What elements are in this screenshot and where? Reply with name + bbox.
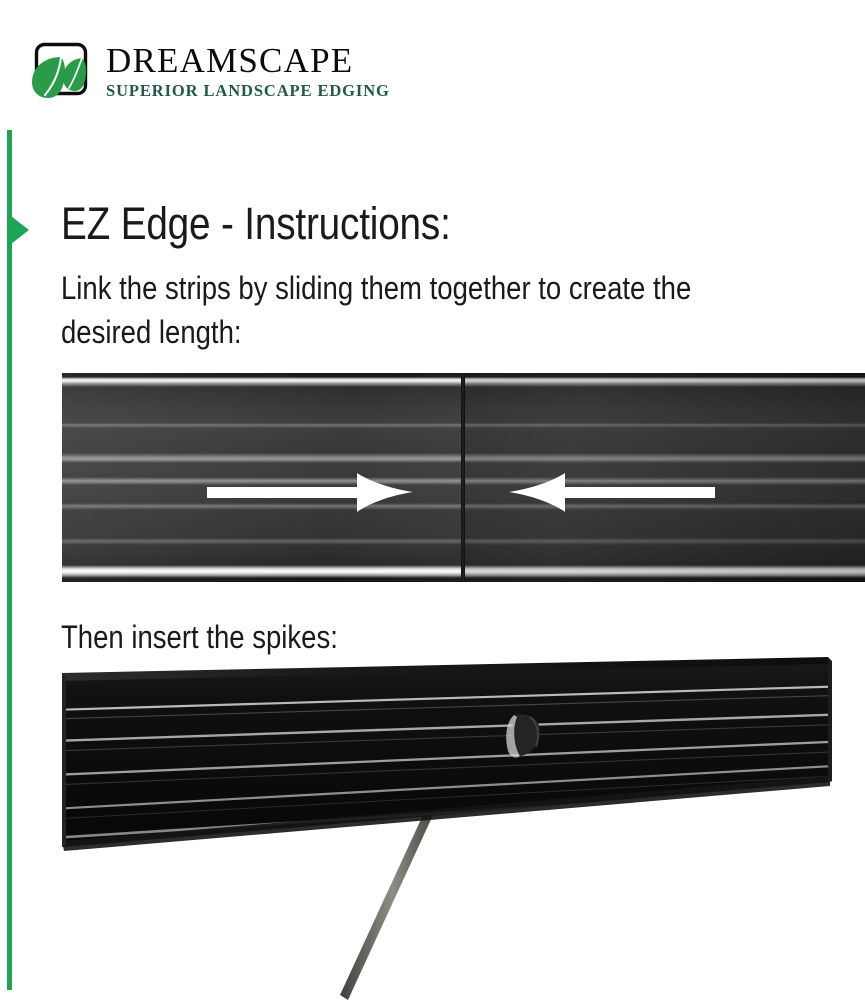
left-accent-rule bbox=[7, 130, 12, 990]
strip-seam bbox=[461, 373, 465, 582]
brand-wordmark: DREAMSCAPE SUPERIOR LANDSCAPE EDGING bbox=[106, 40, 390, 100]
step-1-line-1: Link the strips by sliding them together… bbox=[61, 266, 775, 310]
green-triangle-marker-icon bbox=[11, 216, 29, 244]
figure-linked-strips bbox=[62, 373, 865, 582]
arrow-right-white-icon bbox=[207, 468, 422, 518]
edging-strip-angled bbox=[62, 657, 852, 851]
step-1-text: Link the strips by sliding them together… bbox=[61, 266, 775, 354]
brand-tagline: SUPERIOR LANDSCAPE EDGING bbox=[106, 81, 390, 100]
figure-spike-insert bbox=[62, 655, 865, 1000]
brand-logo: DREAMSCAPE SUPERIOR LANDSCAPE EDGING bbox=[30, 40, 390, 110]
arrow-left-white-icon bbox=[500, 468, 715, 518]
leaf-logo-icon bbox=[30, 40, 92, 106]
step-1-line-2: desired length: bbox=[61, 310, 775, 354]
instruction-sheet: DREAMSCAPE SUPERIOR LANDSCAPE EDGING EZ … bbox=[0, 0, 865, 1000]
step-2-text: Then insert the spikes: bbox=[61, 615, 338, 659]
page-title: EZ Edge - Instructions: bbox=[61, 198, 451, 250]
brand-name: DREAMSCAPE bbox=[106, 42, 390, 80]
